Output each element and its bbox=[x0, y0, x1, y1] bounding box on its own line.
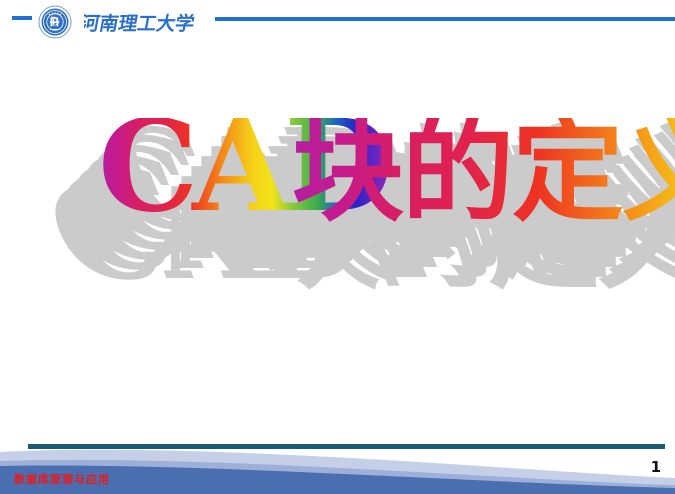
slide-footer: 数据库原理与应用 1 bbox=[0, 442, 675, 494]
slide-page-number: 1 bbox=[651, 458, 661, 476]
header-dash-mark bbox=[12, 16, 32, 20]
university-name-text: 河南理工大学 bbox=[84, 12, 196, 35]
wordart-face-layer: CAD 块的定义与使用 bbox=[98, 118, 675, 240]
wordart-cjk-text: 块的定义与使用 bbox=[292, 118, 675, 237]
footer-course-label: 数据库原理与应用 bbox=[14, 471, 110, 487]
slide-header: Ð 河南理工大学 bbox=[0, 0, 675, 48]
university-seal-icon: Ð bbox=[38, 5, 72, 39]
header-horizontal-rule bbox=[215, 17, 675, 21]
slide-title-wordart: CAD 块的定义与使用 CAD 块的定义与使用 CAD 块的定义与使用 CAD … bbox=[0, 118, 675, 318]
presentation-slide: Ð 河南理工大学 bbox=[0, 0, 675, 494]
university-name-calligraphy: 河南理工大学 bbox=[84, 4, 210, 40]
wordart-svg: CAD 块的定义与使用 CAD 块的定义与使用 CAD 块的定义与使用 CAD … bbox=[0, 118, 675, 318]
footer-teal-bar bbox=[28, 444, 665, 449]
